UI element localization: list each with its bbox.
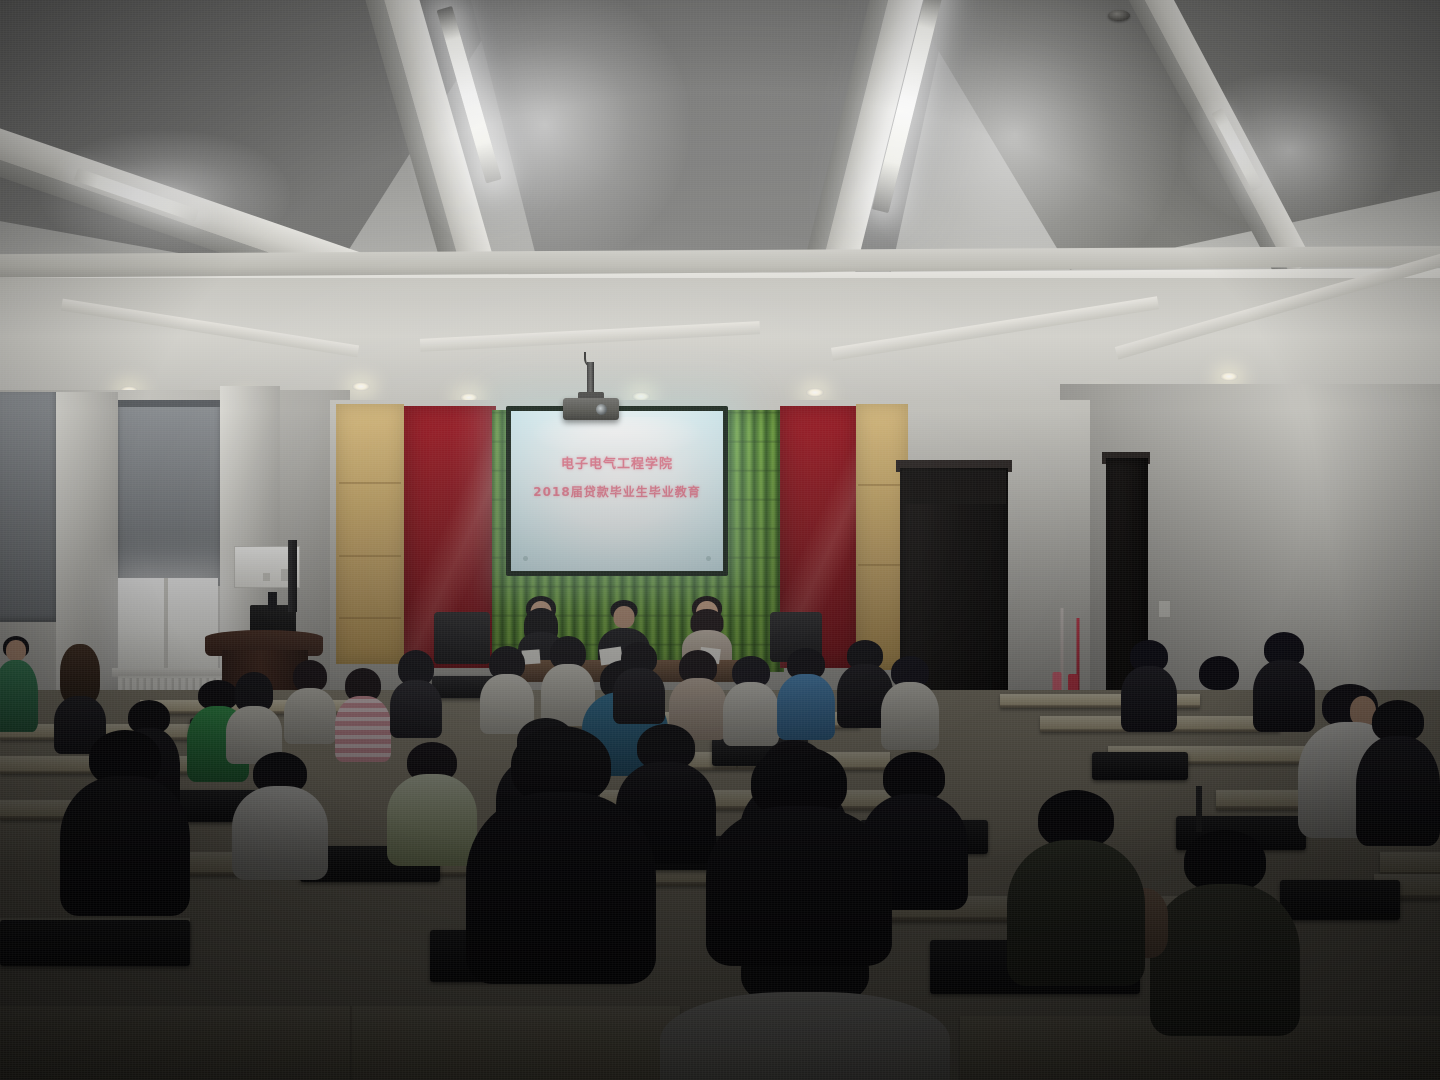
student-foreground-left-dark <box>60 730 190 910</box>
floor-joint-1 <box>0 1002 700 1003</box>
student-mid-left-3 <box>390 650 442 734</box>
student-camo-right <box>1006 790 1146 980</box>
projection-screen: 电子电气工程学院 2018届贷款毕业生毕业教育 <box>511 411 723 571</box>
light-switch-plate[interactable] <box>1158 600 1171 618</box>
desk-row-e-right <box>1380 852 1440 876</box>
podium-monitor-stand <box>268 592 277 610</box>
student-mid-left-1 <box>226 672 282 758</box>
student-right-2 <box>1188 656 1250 748</box>
seat-back-12 <box>0 920 190 966</box>
student-center-5 <box>722 656 780 742</box>
student-foreground-center-dark <box>466 726 656 976</box>
backdrop-panel-tan-left <box>336 404 404 664</box>
broom-red <box>1073 618 1083 694</box>
floor-joint-2 <box>960 1012 1440 1013</box>
student-white-hoodie <box>232 752 328 872</box>
lecture-hall-photo: 电子电气工程学院 2018届贷款毕业生毕业教育 <box>0 0 1440 1080</box>
door-left-transom <box>902 470 1006 504</box>
downlight-6 <box>806 388 824 397</box>
student-pink-plaid <box>334 668 392 760</box>
seat-back-5 <box>1092 752 1188 780</box>
downlight-3 <box>352 382 370 391</box>
desk-foreground-left <box>0 1006 680 1080</box>
podium-post <box>288 540 297 612</box>
projector-pole <box>587 362 594 394</box>
student-right-1 <box>1120 640 1178 728</box>
slide-title-line-2: 2018届贷款毕业生毕业教育 <box>511 483 723 500</box>
student-center-7 <box>880 656 940 746</box>
window-mullion <box>164 578 168 674</box>
projector-lens-icon <box>596 404 607 415</box>
roller-blind-left[interactable] <box>118 404 220 586</box>
downlight-9 <box>1220 372 1238 381</box>
student-mid-left-2 <box>284 660 336 740</box>
student-olive-shirt-gesturing <box>1150 830 1300 1030</box>
desk-leg-2 <box>1196 786 1202 832</box>
student-foreground-right-dark <box>706 746 892 956</box>
slide-title-line-1: 电子电气工程学院 <box>511 453 723 472</box>
blind-rail-left[interactable] <box>116 400 224 407</box>
broom-pink <box>1057 608 1066 694</box>
student-lime-hoodie <box>386 742 478 858</box>
smoke-detector-icon <box>1108 10 1130 21</box>
student-blue-tshirt <box>776 648 836 736</box>
student-center-3 <box>612 642 666 720</box>
projector <box>563 398 619 420</box>
roller-blind-far-left[interactable] <box>0 392 56 622</box>
student-far-right-edge <box>1356 700 1440 840</box>
student-left-edge-green <box>0 636 38 732</box>
window-left <box>118 578 218 674</box>
